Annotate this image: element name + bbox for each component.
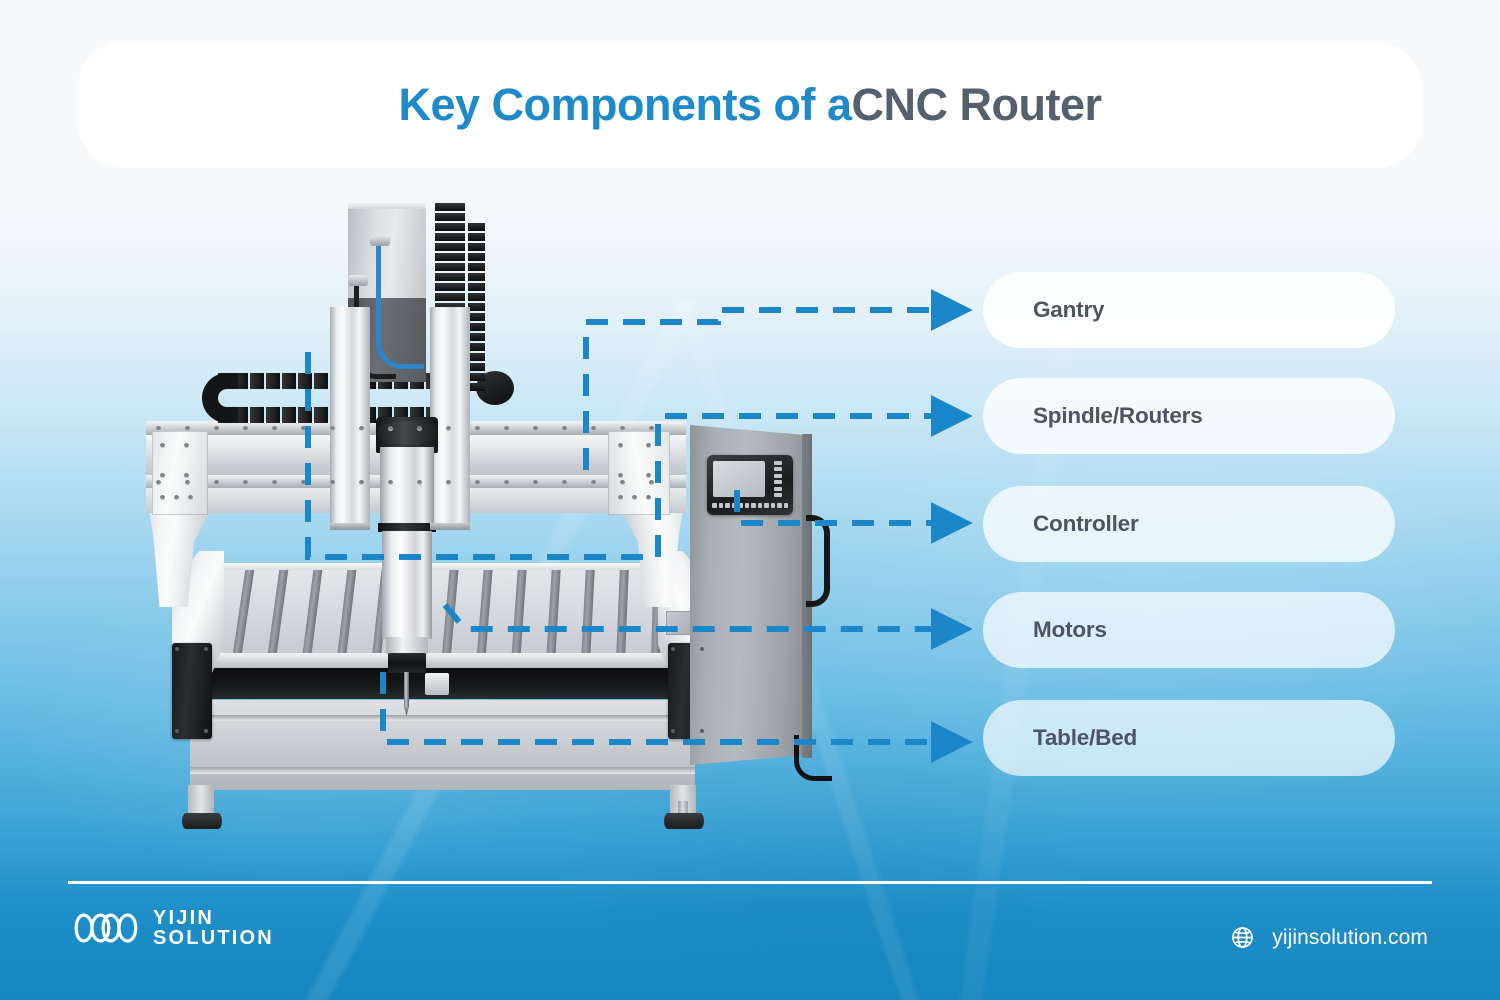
motor-housing-screw (700, 729, 704, 733)
spindle-body-lower (382, 531, 432, 639)
plate-bolt (184, 473, 189, 478)
callout-pill-table-bed[interactable]: Table/Bed (983, 700, 1395, 776)
callout-pill-controller[interactable]: Controller (983, 486, 1395, 562)
plate-bolt (160, 495, 165, 500)
base-rail-lower (190, 767, 695, 774)
plate-bolt (632, 495, 637, 500)
website-text: yijinsolution.com (1272, 926, 1428, 950)
motor-housing-screw (175, 729, 179, 733)
plate-bolt (188, 495, 193, 500)
router-bit (404, 672, 409, 708)
spindle-collet-nut (388, 653, 426, 673)
motor-housing-left (172, 643, 212, 739)
cable-chain-loop (202, 373, 238, 423)
hmi-side-buttons (770, 461, 787, 497)
page-title: Key Components of a CNC Router (78, 42, 1422, 168)
motor-housing-screw (671, 647, 675, 651)
plate-bolt (646, 473, 651, 478)
brand-logo[interactable]: YIJIN SOLUTION (72, 908, 274, 949)
cabinet-power-cable (794, 735, 832, 781)
z-guide-foot (430, 523, 470, 530)
cnc-router-illustration (130, 195, 830, 835)
hmi-display-screen (713, 461, 765, 497)
spindle-top-cap (377, 421, 437, 445)
motor-housing-screw (671, 729, 675, 733)
plate-bolt (160, 443, 165, 448)
motor-housing-screw (204, 729, 208, 733)
machine-base-front (190, 700, 695, 790)
plate-bolt (618, 443, 623, 448)
hose-fitting (370, 235, 390, 246)
callout-label-controller: Controller (1033, 511, 1139, 537)
base-rail-upper (190, 715, 695, 721)
motor-housing-screw (175, 647, 179, 651)
infinity-loop-logo-icon (72, 908, 140, 948)
brand-name-line1: YIJIN (153, 908, 274, 928)
plate-bolt (646, 495, 651, 500)
callout-pill-spindle-routers[interactable]: Spindle/Routers (983, 378, 1395, 454)
page-title-blue-part: Key Components of a (398, 79, 851, 131)
callout-label-table-bed: Table/Bed (1033, 725, 1137, 751)
table-center-clamp (425, 673, 449, 695)
callout-label-gantry: Gantry (1033, 297, 1104, 323)
title-card: Key Components of a CNC Router (78, 42, 1422, 168)
table-back-edge (214, 563, 674, 570)
table-t-slots (198, 567, 690, 667)
z-axis-cable-chain-secondary (468, 223, 485, 391)
brand-logo-text: YIJIN SOLUTION (153, 908, 274, 949)
hmi-bottom-buttons (712, 501, 788, 509)
leveling-foot-right (664, 813, 704, 829)
website-link[interactable]: yijinsolution.com (1230, 925, 1428, 950)
page-title-dark-part: CNC Router (852, 79, 1102, 131)
gantry-bolt-row (156, 426, 654, 431)
plate-bolt (618, 495, 623, 500)
hose-fitting (348, 275, 368, 286)
z-axis-linear-guide-left (330, 307, 370, 525)
callout-label-motors: Motors (1033, 617, 1107, 643)
motor-housing-screw (700, 647, 704, 651)
z-guide-foot (330, 523, 370, 530)
callout-pill-gantry[interactable]: Gantry (983, 272, 1395, 348)
plate-bolt (184, 443, 189, 448)
globe-icon (1230, 925, 1255, 950)
spindle-body-upper (380, 447, 434, 525)
table-front-edge (198, 653, 690, 667)
plate-bolt (618, 473, 623, 478)
gantry-bolt-row (156, 480, 654, 485)
plate-bolt (646, 443, 651, 448)
plate-bolt (174, 495, 179, 500)
plate-bolt (160, 473, 165, 478)
pneumatic-hose-blue (376, 239, 424, 369)
callout-label-spindle-routers: Spindle/Routers (1033, 403, 1203, 429)
z-axis-linear-guide-right (430, 307, 470, 525)
footer-divider (68, 881, 1432, 884)
motor-housing-screw (204, 647, 208, 651)
callout-pill-motors[interactable]: Motors (983, 592, 1395, 668)
leveling-foot-left (182, 813, 222, 829)
brand-name-line2: SOLUTION (153, 928, 274, 948)
cabinet-door-handle (806, 515, 830, 607)
